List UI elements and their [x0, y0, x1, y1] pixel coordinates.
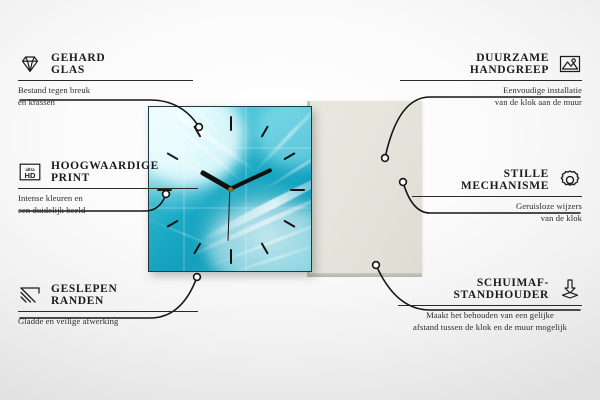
feature-titles: DUURZAME HANDGREEP — [470, 52, 549, 76]
feature-title-line1: SCHUIMAF- — [477, 277, 549, 289]
feature-header: STILLE MECHANISME — [412, 168, 582, 192]
feature-title-line1: STILLE — [504, 168, 549, 180]
feature-title-line1: DUURZAME — [476, 52, 549, 64]
feature-desc-line2: van de klok aan de muur — [400, 97, 582, 109]
feature-description: Maakt het behouden van een gelijke afsta… — [398, 310, 582, 333]
leader-dot-randen — [194, 274, 201, 281]
feature-stille-mechanisme: STILLE MECHANISME Geruisloze wijzers van… — [412, 168, 582, 224]
feature-rule — [18, 80, 193, 81]
feature-desc-line2: van de klok — [412, 213, 582, 225]
feature-title-line2: HANDGREEP — [470, 64, 549, 76]
beveled-edge-icon — [18, 283, 42, 307]
feature-desc-line1: Maakt het behouden van een gelijke — [398, 310, 582, 322]
feature-title-line1: GEHARD — [51, 52, 105, 64]
feature-rule — [412, 196, 582, 197]
feature-description: Intense kleuren en een duidelijk beeld — [18, 193, 198, 216]
feature-geslepen-randen: GESLEPEN RANDEN Gladde en veilige afwerk… — [18, 283, 198, 328]
leader-dot-gehard — [196, 124, 203, 131]
feature-desc-line1: Geruisloze wijzers — [412, 201, 582, 213]
feature-header: GESLEPEN RANDEN — [18, 283, 198, 307]
feature-title-line1: GESLEPEN — [51, 283, 117, 295]
feature-description: Gladde en veilige afwerking — [18, 316, 198, 328]
feature-description: Geruisloze wijzers van de klok — [412, 201, 582, 224]
feature-rule — [400, 80, 582, 81]
leader-dot-handgreep — [382, 155, 389, 162]
feature-title-line2: GLAS — [51, 64, 105, 76]
leader-dot-mechanisme — [400, 179, 407, 186]
feature-titles: HOOGWAARDIGE PRINT — [51, 160, 159, 184]
feature-header: SCHUIMAF- STANDHOUDER — [398, 277, 582, 301]
feature-title-line2: RANDEN — [51, 295, 117, 307]
feature-title-line2: MECHANISME — [461, 180, 549, 192]
feature-rule — [398, 305, 582, 306]
feature-titles: GESLEPEN RANDEN — [51, 283, 117, 307]
feature-description: Eenvoudige installatie van de klok aan d… — [400, 85, 582, 108]
feature-desc-line1: Gladde en veilige afwerking — [18, 316, 198, 328]
svg-text:HD: HD — [25, 171, 36, 180]
feature-title-line2: PRINT — [51, 172, 159, 184]
feature-titles: STILLE MECHANISME — [461, 168, 549, 192]
feature-rule — [18, 188, 198, 189]
feature-desc-line1: Bestand tegen breuk — [18, 85, 193, 97]
feature-desc-line1: Intense kleuren en — [18, 193, 198, 205]
diamond-icon — [18, 52, 42, 76]
feature-header: DUURZAME HANDGREEP — [400, 52, 582, 76]
feature-desc-line2: afstand tussen de klok en de muur mogeli… — [398, 322, 582, 334]
feature-titles: GEHARD GLAS — [51, 52, 105, 76]
feature-title-line2: STANDHOUDER — [453, 289, 549, 301]
feature-desc-line2: een duidelijk beeld — [18, 205, 198, 217]
gear-icon — [558, 168, 582, 192]
picture-frame-icon — [558, 52, 582, 76]
leader-dot-standhouder — [373, 262, 380, 269]
feature-header: ultra HD HOOGWAARDIGE PRINT — [18, 160, 198, 184]
infographic-stage: GEHARD GLAS Bestand tegen breuk en krass… — [0, 0, 600, 400]
feature-hoogwaardige-print: ultra HD HOOGWAARDIGE PRINT Intense kleu… — [18, 160, 198, 216]
feature-description: Bestand tegen breuk en krassen — [18, 85, 193, 108]
feature-gehard-glas: GEHARD GLAS Bestand tegen breuk en krass… — [18, 52, 193, 108]
feature-desc-line1: Eenvoudige installatie — [400, 85, 582, 97]
ultra-hd-icon: ultra HD — [18, 160, 42, 184]
feature-title-line1: HOOGWAARDIGE — [51, 160, 159, 172]
down-arrow-spacer-icon — [558, 277, 582, 301]
feature-header: GEHARD GLAS — [18, 52, 193, 76]
feature-titles: SCHUIMAF- STANDHOUDER — [453, 277, 549, 301]
feature-rule — [18, 311, 198, 312]
feature-duurzame-handgreep: DUURZAME HANDGREEP Eenvoudige installati… — [400, 52, 582, 108]
feature-schuimafstandhouder: SCHUIMAF- STANDHOUDER Maakt het behouden… — [398, 277, 582, 333]
feature-desc-line2: en krassen — [18, 97, 193, 109]
